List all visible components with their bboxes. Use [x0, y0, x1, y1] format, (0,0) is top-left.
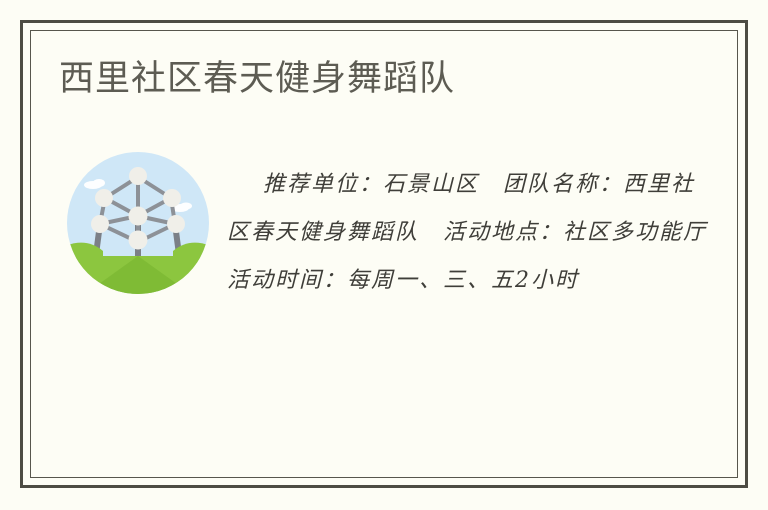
card-content: 西里社区春天健身舞蹈队 — [31, 31, 737, 477]
team-description: 推荐单位：石景山区 团队名称：西里社区春天健身舞蹈队 活动地点：社区多功能厅 活… — [227, 161, 717, 305]
atomium-monument-icon — [67, 152, 209, 294]
page-title: 西里社区春天健身舞蹈队 — [59, 56, 455, 102]
page-root: 西里社区春天健身舞蹈队 — [0, 0, 768, 510]
